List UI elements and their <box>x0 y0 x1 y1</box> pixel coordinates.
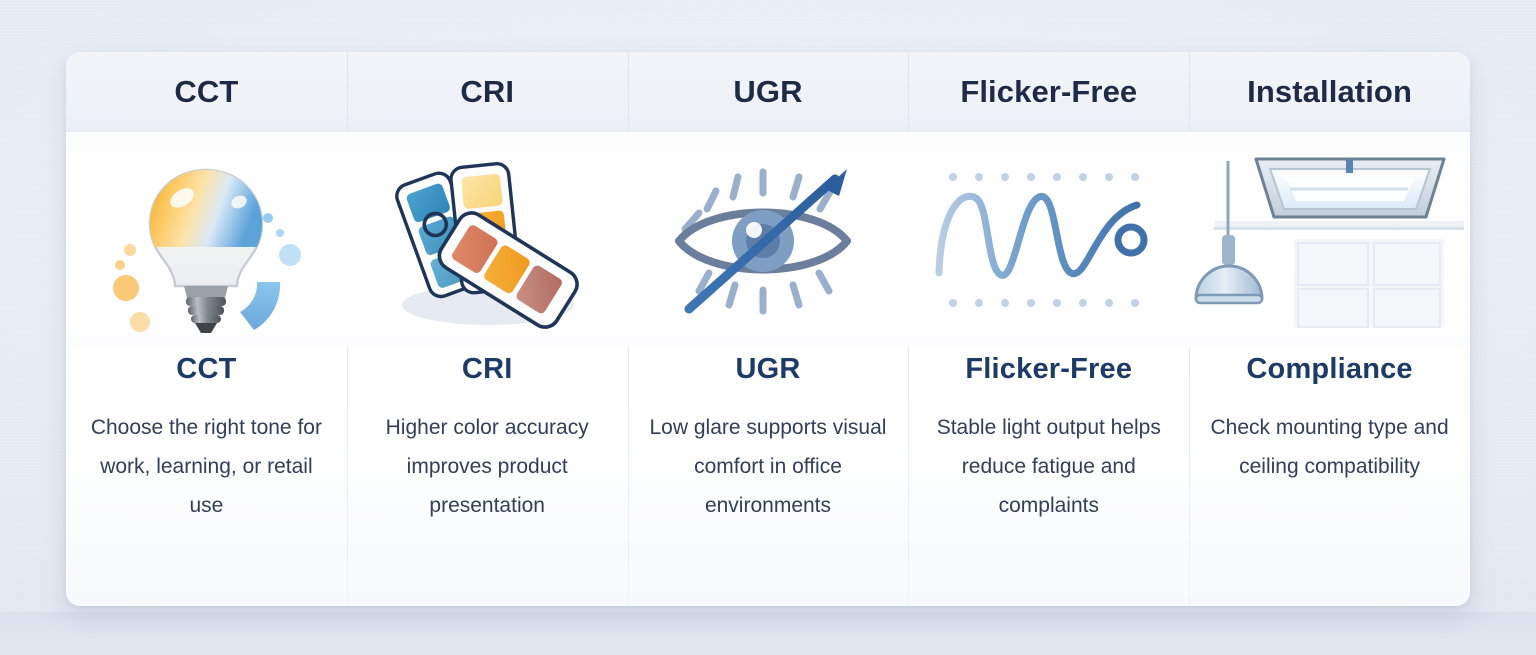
column-body-installation: Compliance Check mounting type and ceili… <box>1189 347 1470 606</box>
column-header-ugr: UGR <box>628 52 909 132</box>
column-header-label: CCT <box>174 74 238 110</box>
waveform-flatline-icon <box>931 165 1166 315</box>
column-cct: CCT <box>66 52 347 606</box>
column-installation: Installation <box>1189 52 1470 606</box>
ceiling-panel-pendant-icon <box>1194 147 1466 333</box>
column-illustration-installation <box>1189 132 1470 347</box>
column-description: Higher color accuracy improves product p… <box>363 408 612 525</box>
color-swatch-fan-icon <box>380 145 595 335</box>
column-title: Compliance <box>1246 353 1412 386</box>
lightbulb-icon <box>92 140 320 340</box>
column-description: Low glare supports visual comfort in off… <box>644 408 893 525</box>
column-title: Flicker-Free <box>965 353 1132 386</box>
column-header-label: Installation <box>1247 74 1412 110</box>
column-ugr: UGR <box>628 52 909 606</box>
column-title: CRI <box>462 353 513 386</box>
poster-canvas: CCT <box>0 0 1536 655</box>
column-header-installation: Installation <box>1189 52 1470 132</box>
column-body-flicker-free: Flicker-Free Stable light output helps r… <box>908 347 1189 606</box>
column-illustration-cct <box>66 132 347 347</box>
column-header-label: CRI <box>460 74 514 110</box>
column-illustration-flicker-free <box>908 132 1189 347</box>
column-description: Stable light output helps reduce fatigue… <box>924 408 1173 525</box>
column-body-cri: CRI Higher color accuracy improves produ… <box>347 347 628 606</box>
column-flicker-free: Flicker-Free <box>908 52 1189 606</box>
column-header-label: UGR <box>733 74 802 110</box>
eye-no-glare-icon <box>665 151 870 329</box>
column-header-flicker-free: Flicker-Free <box>908 52 1189 132</box>
column-header-cct: CCT <box>66 52 347 132</box>
column-header-cri: CRI <box>347 52 628 132</box>
column-title: CCT <box>176 353 236 386</box>
feature-comparison-card: CCT <box>66 52 1470 606</box>
column-illustration-cri <box>347 132 628 347</box>
background-shelf <box>0 612 1536 655</box>
column-body-ugr: UGR Low glare supports visual comfort in… <box>628 347 909 606</box>
column-cri: CRI <box>347 52 628 606</box>
column-header-label: Flicker-Free <box>960 74 1137 110</box>
column-body-cct: CCT Choose the right tone for work, lear… <box>66 347 347 606</box>
column-title: UGR <box>735 353 800 386</box>
column-illustration-ugr <box>628 132 909 347</box>
column-description: Choose the right tone for work, learning… <box>82 408 331 525</box>
column-description: Check mounting type and ceiling compatib… <box>1205 408 1454 486</box>
